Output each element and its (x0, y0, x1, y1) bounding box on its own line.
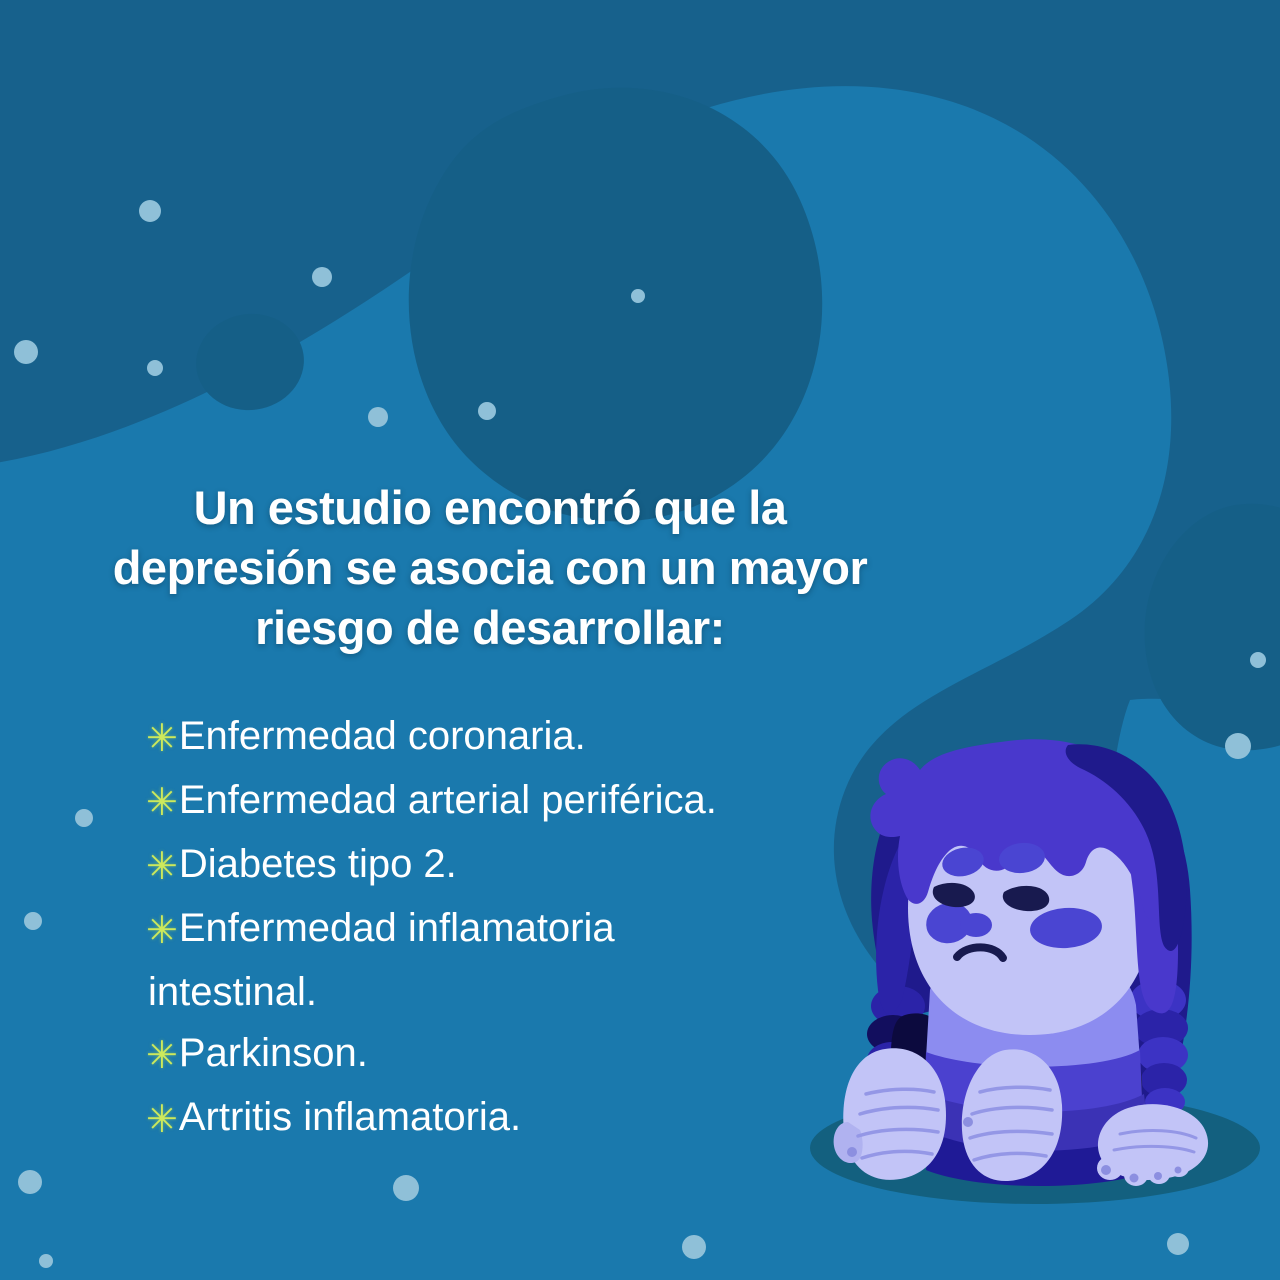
list-item: ✳Parkinson. (146, 1023, 886, 1087)
list-item-label: Artritis inflamatoria. (179, 1095, 521, 1139)
star-bullet-icon: ✳ (146, 901, 178, 962)
list-item: ✳Enfermedad coronaria. (146, 706, 886, 770)
list-item-label: Enfermedad coronaria. (179, 714, 586, 758)
risk-list: ✳Enfermedad coronaria. ✳Enfermedad arter… (146, 706, 886, 1151)
list-item-label: intestinal. (148, 970, 317, 1014)
list-item: ✳Artritis inflamatoria. (146, 1087, 886, 1151)
star-bullet-icon: ✳ (146, 837, 178, 898)
list-item-continuation: intestinal. (146, 962, 886, 1023)
page-title: Un estudio encontró que la depresión se … (110, 478, 870, 658)
list-item-label: Parkinson. (179, 1031, 368, 1075)
star-bullet-icon: ✳ (146, 1090, 178, 1151)
poster-canvas: Un estudio encontró que la depresión se … (0, 0, 1280, 1280)
star-bullet-icon: ✳ (146, 709, 178, 770)
star-bullet-icon: ✳ (146, 1026, 178, 1087)
list-item-label: Enfermedad arterial periférica. (179, 778, 717, 822)
list-item: ✳Enfermedad inflamatoria (146, 898, 886, 962)
list-item: ✳Enfermedad arterial periférica. (146, 770, 886, 834)
list-item-label: Enfermedad inflamatoria (179, 906, 615, 950)
list-item: ✳Diabetes tipo 2. (146, 834, 886, 898)
list-item-label: Diabetes tipo 2. (179, 842, 457, 886)
star-bullet-icon: ✳ (146, 773, 178, 834)
